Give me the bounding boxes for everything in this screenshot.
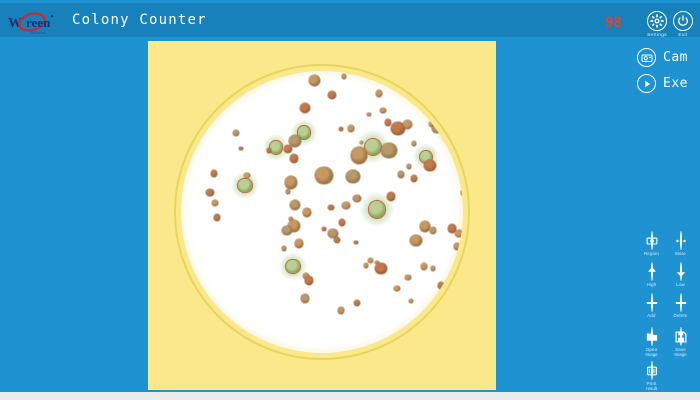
colony[interactable] [424,160,435,171]
colony[interactable] [211,170,217,176]
region-label: Region [637,251,666,256]
colony[interactable] [375,263,386,274]
colony[interactable] [233,130,239,136]
colony[interactable] [285,176,297,188]
arrow-up-icon [651,262,653,281]
colony[interactable] [398,171,404,177]
colony[interactable] [410,235,421,246]
more-button[interactable]: More [666,232,695,256]
colony[interactable] [420,221,430,231]
colony[interactable] [412,141,417,146]
svg-text:reen: reen [26,15,51,30]
colony[interactable] [238,179,251,192]
colony[interactable] [445,123,461,139]
colony[interactable] [342,202,349,209]
colony[interactable] [315,167,332,184]
colony[interactable] [411,175,418,182]
colony[interactable] [385,119,392,126]
colony[interactable] [348,125,355,132]
colony[interactable] [305,276,313,284]
save-image-label2: Image [666,352,695,357]
colony[interactable] [212,200,218,206]
colony[interactable] [214,214,221,221]
colony[interactable] [328,205,334,211]
colony[interactable] [328,91,336,99]
petri-dish-image-panel[interactable] [148,41,496,390]
cam-label: Cam [663,50,688,65]
colony[interactable] [365,139,381,155]
arrow-down-icon [680,262,682,281]
exe-button[interactable]: Exe [637,74,688,93]
wgreen-logo: W reen WGreen [6,9,68,37]
page-title: Colony Counter [72,12,207,28]
colony[interactable] [368,258,373,263]
open-image-button[interactable]: Open Image [637,328,666,357]
colony[interactable] [300,103,310,113]
region-icon [651,231,653,250]
colony[interactable] [346,170,359,183]
colony[interactable] [415,93,422,100]
high-label: High [637,282,666,287]
save-image-button[interactable]: Save Image [666,328,695,357]
delete-button[interactable]: Delete [666,294,695,318]
colony[interactable] [367,113,370,116]
colony[interactable] [284,145,292,153]
more-dots-icon [680,231,682,250]
colony[interactable] [461,189,463,196]
print-icon [651,361,653,380]
colony[interactable] [301,294,310,303]
colony[interactable] [381,143,396,158]
colony-counter-window: W reen WGreen Colony Counter 98 [0,0,700,400]
colony[interactable] [380,108,385,113]
exe-label: Exe [663,76,688,91]
colony[interactable] [303,208,311,216]
add-label: Add [637,313,666,318]
colony[interactable] [206,189,213,196]
high-button[interactable]: High [637,263,666,287]
exit-label: Exit [663,32,700,38]
colony[interactable] [339,219,345,225]
colony[interactable] [354,241,358,245]
colony[interactable] [239,147,243,151]
dish-agar-surface [181,71,463,353]
colony[interactable] [455,230,462,237]
colony[interactable] [309,75,320,86]
floppy-icon [680,327,682,346]
colony[interactable] [338,307,344,313]
colony[interactable] [286,189,290,193]
print-result-label2: result [637,386,666,391]
petri-dish [154,48,490,384]
minus-icon [680,293,682,312]
colony[interactable] [403,120,412,129]
play-icon [637,74,656,93]
open-image-label2: Image [637,352,666,357]
low-button[interactable]: Low [666,263,695,287]
colony[interactable] [322,227,326,231]
colony[interactable] [334,237,340,243]
delete-label: Delete [666,313,695,318]
power-icon [673,11,693,31]
title-bar: W reen WGreen Colony Counter 98 [0,3,700,37]
low-label: Low [666,282,695,287]
svg-text:WGreen: WGreen [30,30,45,35]
colony[interactable] [364,263,368,267]
more-label: More [666,251,695,256]
colony[interactable] [282,246,287,251]
colony[interactable] [409,299,413,303]
colony[interactable] [295,239,304,248]
colony[interactable] [342,74,347,79]
colony[interactable] [430,227,437,234]
colony[interactable] [421,263,427,269]
add-button[interactable]: Add [637,294,666,318]
colony[interactable] [394,286,399,291]
region-button[interactable]: Region [637,232,666,256]
colony[interactable] [339,127,343,131]
colony[interactable] [405,275,410,280]
colony[interactable] [407,164,412,169]
plus-icon [651,293,653,312]
cam-button[interactable]: Cam [637,48,688,67]
exit-button[interactable]: Exit [663,11,700,38]
colony-count-badge: 98 [605,15,622,31]
colony[interactable] [290,154,298,162]
colony[interactable] [460,128,463,137]
logo-icon: W reen WGreen [6,9,68,37]
colony[interactable] [353,195,361,203]
bottom-strip [0,392,700,400]
colony[interactable] [282,226,291,235]
folder-icon [651,327,653,346]
print-result-button[interactable]: Print result [637,362,666,391]
colony[interactable] [354,300,360,306]
colony[interactable] [286,260,299,273]
camera-icon [637,48,656,67]
colony[interactable] [290,200,300,210]
colony[interactable] [376,90,382,96]
colony[interactable] [431,266,436,271]
